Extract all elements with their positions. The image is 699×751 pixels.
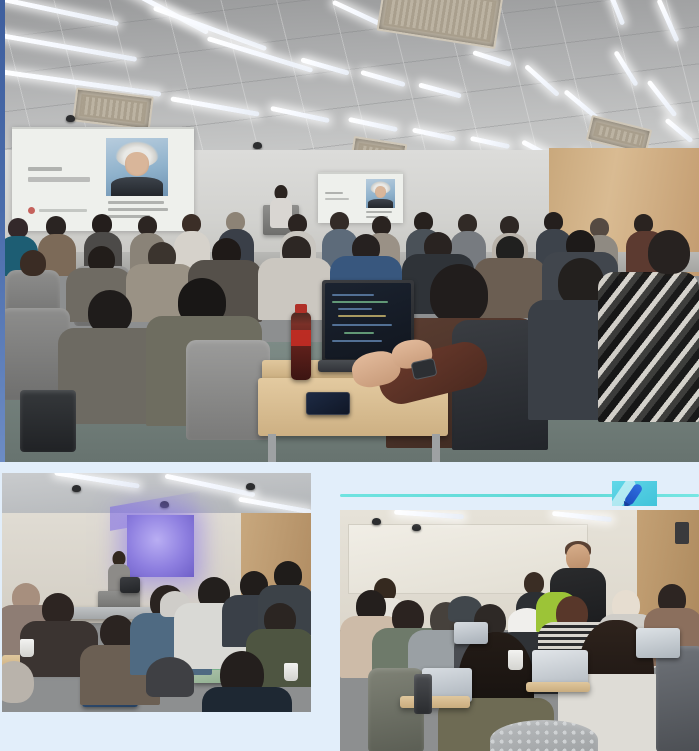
- pen-badge[interactable]: [612, 481, 657, 506]
- student-head: [524, 572, 544, 594]
- paper-cup: [284, 663, 298, 681]
- code-line: [332, 324, 392, 326]
- hero-photo-lecture-hall[interactable]: AI 與數據科學應用 教授 / AI 教育研究者，機器學習與數據分析專家 學院 …: [0, 0, 699, 462]
- attendee-head: [46, 216, 66, 236]
- ceiling-camera-icon: [412, 524, 421, 531]
- code-line: [332, 301, 388, 303]
- blue-projection-screen: [127, 515, 194, 577]
- paper-cup: [20, 639, 34, 657]
- seat-back: [656, 646, 699, 751]
- ceiling-projector-icon: [72, 485, 81, 492]
- code-line: [332, 294, 374, 296]
- ceiling-camera-icon: [66, 115, 75, 122]
- trash-bin: [20, 390, 76, 452]
- bottle-cap: [295, 304, 307, 313]
- smartphone-on-desk[interactable]: [306, 392, 350, 415]
- podium-laptop: [120, 577, 140, 593]
- code-line: [332, 340, 382, 342]
- wall-speaker: [675, 522, 689, 544]
- student-head-with-cap: [146, 657, 194, 697]
- attendee-head: [92, 214, 112, 234]
- attendee-patterned-coat: [598, 272, 699, 422]
- student-laptop: [454, 622, 488, 644]
- screen-body-line: [108, 201, 164, 204]
- screen-body-line: [108, 208, 168, 211]
- bottle-label: [291, 330, 311, 346]
- student-body: [202, 687, 292, 712]
- main-screen-title-text: AI 與數據科學應用: [12, 129, 13, 130]
- attendee-head: [20, 250, 46, 276]
- tumbler-cup: [414, 674, 432, 714]
- screen-title-line: [325, 192, 343, 194]
- audience-crowd: [0, 212, 699, 462]
- ceiling-camera-icon: [253, 142, 262, 149]
- code-line: [338, 308, 372, 310]
- screen-title-line: [28, 167, 62, 171]
- bottom-left-photo-classroom[interactable]: Classroom photo taken from the back: an …: [2, 473, 311, 712]
- code-line: [338, 315, 386, 317]
- student-head: [100, 615, 134, 649]
- attendee-head: [648, 230, 690, 274]
- code-line: [344, 332, 374, 334]
- ceiling-camera-icon: [372, 518, 381, 525]
- bottom-right-photo-classroom[interactable]: Classroom photo: a person in a black tur…: [340, 510, 699, 751]
- paper-cup: [508, 650, 523, 670]
- main-screen-body-text: 教授 / AI 教育研究者，機器學習與數據分析專家: [12, 129, 13, 130]
- screen-portrait-photo: [366, 179, 395, 208]
- ceiling-camera-icon: [246, 483, 255, 490]
- student-laptop: [636, 628, 680, 658]
- desk-leg: [268, 434, 276, 462]
- head: [566, 544, 590, 571]
- attendee-head: [430, 264, 488, 324]
- screen-portrait-photo: [106, 138, 168, 196]
- main-screen-footer-text: 學院 · Seminar Track: [12, 129, 13, 130]
- classroom-desk: [400, 696, 470, 708]
- screen-title-line: [28, 177, 90, 182]
- screen-title-line: [325, 198, 349, 200]
- cola-bottle[interactable]: [291, 312, 311, 380]
- desk-leg: [432, 434, 440, 462]
- collage-page: AI 與數據科學應用 教授 / AI 教育研究者，機器學習與數據分析專家 學院 …: [0, 0, 699, 751]
- blue-edge-strip: [0, 0, 5, 462]
- attendee-head: [8, 218, 28, 238]
- classroom-desk: [526, 682, 590, 692]
